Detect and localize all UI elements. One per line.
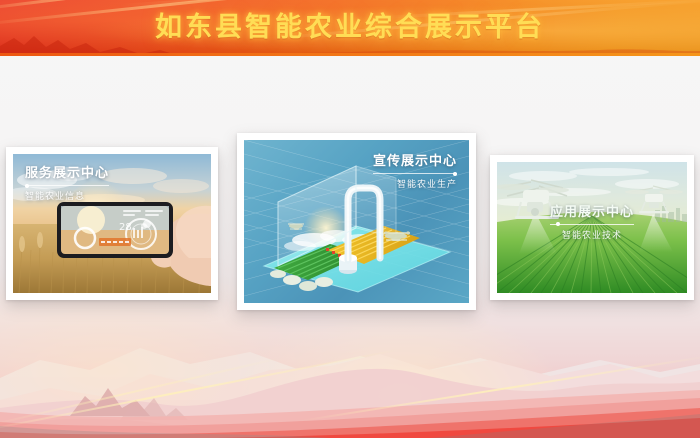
card-application-image: 应用展示中心 智能农业技术 <box>497 162 687 293</box>
card-service-text: 服务展示中心 智能农业信息 <box>25 162 109 202</box>
card-promotion-display-center[interactable]: 宣传展示中心 智能农业生产 <box>237 133 476 310</box>
card-application-subtitle: 智能农业技术 <box>550 228 634 241</box>
background-glow-center <box>230 300 570 438</box>
card-promotion-image: 宣传展示中心 智能农业生产 <box>244 140 469 303</box>
card-promotion-subtitle: 智能农业生产 <box>373 177 457 190</box>
card-promotion-title: 宣传展示中心 <box>373 150 457 169</box>
card-application-divider <box>550 224 634 225</box>
page-title: 如东县智能农业综合展示平台 <box>0 6 700 50</box>
card-service-divider <box>25 185 109 186</box>
card-service-subtitle: 智能农业信息 <box>25 189 109 202</box>
title-banner: 如东县智能农业综合展示平台 <box>0 0 700 56</box>
card-application-text: 应用展示中心 智能农业技术 <box>550 201 634 241</box>
banner-bottom-edge <box>0 53 700 56</box>
card-service-image: 28 服务展示中 <box>13 154 211 293</box>
showcase-page: 如东县智能农业综合展示平台 <box>0 0 700 438</box>
card-service-title: 服务展示中心 <box>25 162 109 181</box>
card-service-display-center[interactable]: 28 服务展示中 <box>6 147 218 300</box>
card-promotion-divider <box>373 173 457 174</box>
card-application-display-center[interactable]: 应用展示中心 智能农业技术 <box>490 155 694 300</box>
card-application-title: 应用展示中心 <box>550 201 634 220</box>
card-promotion-text: 宣传展示中心 智能农业生产 <box>373 150 457 190</box>
